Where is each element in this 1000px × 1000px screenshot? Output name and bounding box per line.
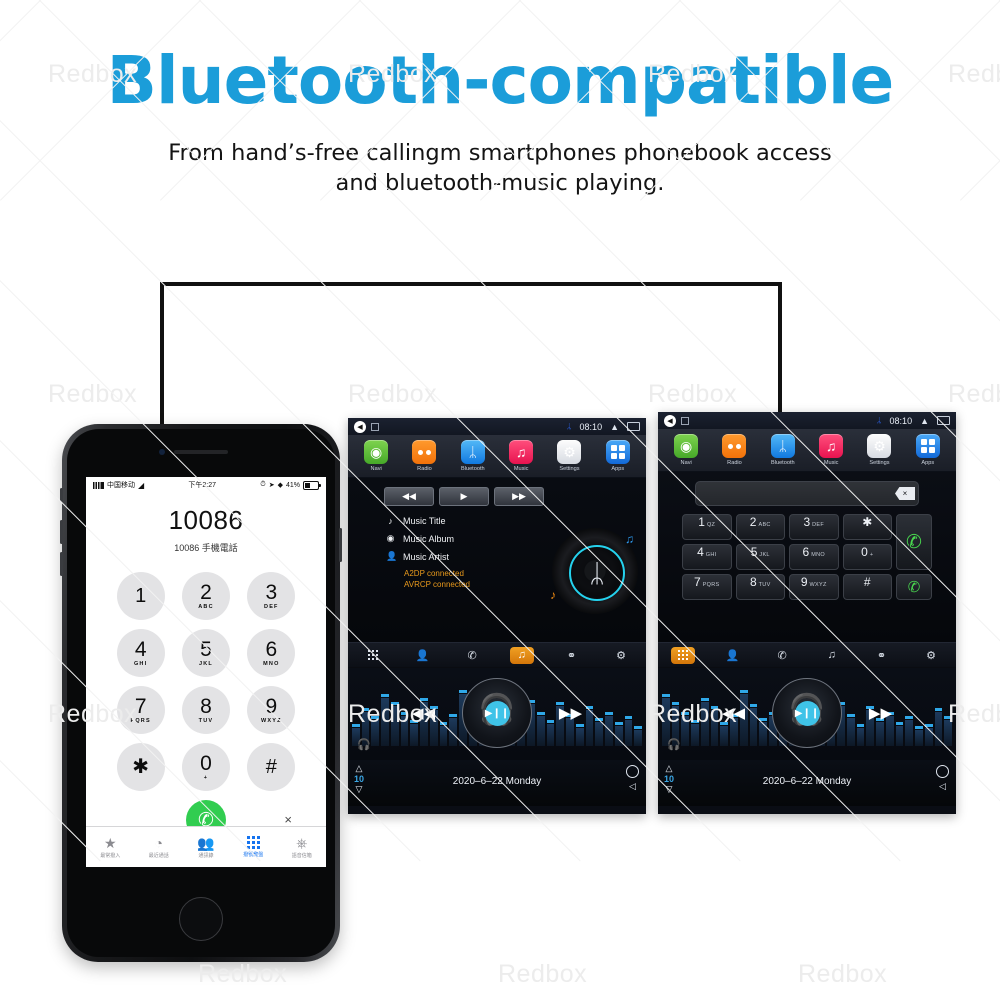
unit2-app-label: Apps <box>921 460 934 466</box>
phone-tab-label: 最近通話 <box>149 852 169 859</box>
unit1-tool-link[interactable]: ⚭ <box>559 647 583 664</box>
phone-key-digit: 2 <box>200 583 212 602</box>
equalizer-bar <box>701 702 709 746</box>
phone-bezel: 中国移动 ◢ 下午2:27 ⏱ ➤ ◆ 41% 10086 10086 手機電話… <box>67 429 335 957</box>
watermark-text: Redbox <box>798 960 887 989</box>
equalizer-bar <box>401 716 409 746</box>
phone-key-digit: 6 <box>265 640 277 659</box>
music-note-orange-icon: ♪ <box>550 588 556 602</box>
unit2-key-digit: 1 <box>698 515 705 529</box>
unit1-app-navi[interactable]: ◉Navi <box>354 440 398 472</box>
clock-icon: ◔ <box>155 836 163 850</box>
phone-number-input[interactable]: × <box>695 481 919 506</box>
phone-key-2[interactable]: 2ABC <box>182 572 230 620</box>
next-track-icon[interactable]: ▶▶ <box>869 704 892 722</box>
equalizer-bar <box>681 716 689 746</box>
phone-key-letters: + <box>204 775 208 781</box>
unit1-app-settings[interactable]: ⚙Settings <box>547 440 591 472</box>
equalizer-bar <box>944 720 952 746</box>
unit2-app-row[interactable]: ◉NaviRadioᛦBluetooth♫Music⚙SettingsApps <box>658 429 956 472</box>
unit1-app-label: Settings <box>559 466 579 472</box>
unit2-key-letters: ABC <box>758 522 770 528</box>
unit1-tool-settings[interactable]: ⚙ <box>609 647 633 664</box>
phone-key-letters: ABC <box>198 604 214 610</box>
next-track-icon[interactable]: ▶▶ <box>559 704 582 722</box>
unit2-key-star[interactable]: ✱ <box>843 514 893 540</box>
unit1-meta-label: Music Artist <box>403 552 449 562</box>
status-left-group: 中国移动 ◢ <box>93 480 144 490</box>
phone-volume-up-button[interactable] <box>60 520 63 544</box>
equalizer-bar <box>615 726 623 746</box>
unit2-play-ring: 🎧 ▶❙❙ <box>772 678 842 748</box>
unit2-tool-keypad[interactable] <box>671 647 695 664</box>
smartphone-device: 中国移动 ◢ 下午2:27 ⏱ ➤ ◆ 41% 10086 10086 手機電話… <box>62 424 340 962</box>
phone-key-digit: 9 <box>265 697 277 716</box>
unit2-key-letters: WXYZ <box>810 582 827 588</box>
rewind-icon[interactable]: ◀◀ <box>384 487 434 506</box>
unit2-date-label: 2020–6–22 Monday <box>763 776 851 787</box>
bluetooth-icon: ᛦ <box>461 440 485 464</box>
unit2-key-5[interactable]: 5JKL <box>736 544 786 570</box>
unit2-key-4[interactable]: 4GHI <box>682 544 732 570</box>
unit2-clock: 08:10 <box>890 416 913 426</box>
phone-key-digit: 7 <box>135 697 147 716</box>
unit1-tool-music[interactable]: ♫ <box>510 647 534 664</box>
unit2-app-navi[interactable]: ◉Navi <box>664 434 708 466</box>
unit1-clock: 08:10 <box>580 422 603 432</box>
bluetooth-icon: ᛦ <box>771 434 795 458</box>
tray-icon[interactable] <box>937 416 950 425</box>
car-stereo-unit-music: ◀ ᛦ 08:10 ▲ ◉NaviRadioᛦBluetooth♫Music⚙S… <box>348 418 646 814</box>
equalizer-bar <box>847 718 855 746</box>
equalizer-bar <box>547 724 555 746</box>
phone-key-1[interactable]: 1 <box>117 572 165 620</box>
signal-bars-icon <box>93 482 104 489</box>
unit2-dialpad[interactable]: 1QZ2ABC3DEF✱✆4GHI5JKL6MNO0+7PQRS8TUV9WXY… <box>682 514 932 600</box>
home-circle-icon[interactable] <box>936 765 949 778</box>
unit1-footer: △ 10 ▽ 2020–6–22 Monday ◁ <box>348 760 646 806</box>
album-disc-icon: ◉ <box>386 533 395 544</box>
grid-apps-icon <box>916 434 940 458</box>
voicemail-icon: ⎈ <box>296 836 307 850</box>
unit1-meta-label: Music Title <box>403 516 446 526</box>
unit2-key-digit: # <box>864 575 871 589</box>
unit2-key-letters: TUV <box>759 582 771 588</box>
equalizer-bar <box>711 710 719 746</box>
phone-key-9[interactable]: 9WXYZ <box>247 686 295 734</box>
unit2-key-hash[interactable]: # <box>843 574 893 600</box>
unit2-app-label: Settings <box>869 460 889 466</box>
music-note-icon: ♫ <box>819 434 843 458</box>
unit2-tool-music[interactable]: ♫ <box>820 647 844 664</box>
unit2-app-apps[interactable]: Apps <box>906 434 950 466</box>
equalizer-bar <box>720 726 728 746</box>
watermark-text: Redbox <box>498 960 587 989</box>
previous-track-icon[interactable]: ◀◀ <box>722 704 745 722</box>
unit2-key-7[interactable]: 7PQRS <box>682 574 732 600</box>
equalizer-bar <box>896 726 904 746</box>
equalizer-bar <box>759 722 767 746</box>
unit2-tool-call-log[interactable]: ✆ <box>770 647 794 664</box>
phone-tab-label: 撥號鍵盤 <box>243 851 263 858</box>
phone-earpiece <box>174 450 228 454</box>
page-title: Bluetooth-compatible <box>0 48 1000 114</box>
unit2-status-bar: ◀ ᛦ 08:10 ▲ <box>658 412 956 429</box>
car-stereo-unit-dialer: ◀ ᛦ 08:10 ▲ ◉NaviRadioᛦBluetooth♫Music⚙S… <box>658 412 956 814</box>
phone-key-8[interactable]: 8TUV <box>182 686 230 734</box>
unit1-status-right: ᛦ 08:10 ▲ <box>567 422 640 432</box>
unit2-key-digit: 5 <box>751 545 758 559</box>
unit1-status-bar: ◀ ᛦ 08:10 ▲ <box>348 418 646 435</box>
phone-key-5[interactable]: 5JKL <box>182 629 230 677</box>
unit2-function-toolbar[interactable]: 👤✆♫⚭⚙ <box>658 642 956 668</box>
equalizer-bar <box>371 720 379 746</box>
unit2-key-letters: DEF <box>812 522 824 528</box>
unit2-app-music[interactable]: ♫Music <box>809 434 853 466</box>
phone-volume-down-button[interactable] <box>60 552 63 576</box>
chevron-up-icon[interactable]: ▲ <box>610 422 619 432</box>
contacts-icon: 👥 <box>197 836 214 850</box>
phone-body: 中国移动 ◢ 下午2:27 ⏱ ➤ ◆ 41% 10086 10086 手機電話… <box>62 424 340 962</box>
unit2-key-letters: + <box>870 552 874 558</box>
phone-key-digit: 4 <box>135 640 147 659</box>
phone-key-0[interactable]: 0+ <box>182 743 230 791</box>
back-triangle-icon[interactable]: ◁ <box>939 782 946 791</box>
volume-up-icon[interactable]: △ <box>666 764 673 773</box>
volume-value: 10 <box>664 774 674 784</box>
phone-tab-voicemail[interactable]: ⎈語音信箱 <box>292 836 312 859</box>
phone-key-letters: JKL <box>199 661 213 667</box>
sd-card-icon <box>371 423 379 431</box>
unit1-app-radio[interactable]: Radio <box>402 440 446 472</box>
phone-key-digit: # <box>266 756 277 778</box>
phone-key-digit: 0 <box>200 754 212 773</box>
unit2-key-digit: 3 <box>803 515 810 529</box>
unit2-key-letters: MNO <box>811 552 825 558</box>
unit1-tool-keypad[interactable] <box>361 647 385 664</box>
equalizer-bar <box>935 712 943 746</box>
music-note-blue-icon: ♫ <box>625 532 634 546</box>
tray-icon[interactable] <box>627 422 640 431</box>
phone-tab-star[interactable]: ★最常撥入 <box>100 836 120 859</box>
bluetooth-glyph: ᛦ <box>589 560 605 586</box>
equalizer-bar <box>449 718 457 746</box>
equalizer-bar <box>381 698 389 746</box>
music-title-icon: ♪ <box>386 516 395 526</box>
unit1-app-bluetooth[interactable]: ᛦBluetooth <box>451 440 495 472</box>
unit2-app-label: Radio <box>727 460 742 466</box>
phone-tab-keypad[interactable]: 撥號鍵盤 <box>243 836 263 858</box>
unit2-nav-buttons[interactable]: ◁ <box>936 765 949 791</box>
phone-key-3[interactable]: 3DEF <box>247 572 295 620</box>
front-camera-icon <box>159 449 165 455</box>
radio-icon <box>722 434 746 458</box>
watermark-text: Redbox <box>948 380 1000 409</box>
unit2-key-3[interactable]: 3DEF <box>789 514 839 540</box>
unit1-nav-buttons[interactable]: ◁ <box>626 765 639 791</box>
phone-key-4[interactable]: 4GHI <box>117 629 165 677</box>
unit2-app-bluetooth[interactable]: ᛦBluetooth <box>761 434 805 466</box>
unit1-app-music[interactable]: ♫Music <box>499 440 543 472</box>
watermark-text: Redbox <box>48 380 137 409</box>
unit1-transport-controls[interactable]: ◀◀▶▶▶ <box>348 478 646 506</box>
equalizer-bar <box>410 724 418 746</box>
location-pin-icon: ◉ <box>364 440 388 464</box>
unit1-play-ring: 🎧 ▶❙❙ <box>462 678 532 748</box>
equalizer-bar <box>876 722 884 746</box>
unit2-key-letters: JKL <box>759 552 769 558</box>
phone-tab-contacts[interactable]: 👥通訊錄 <box>197 836 214 859</box>
unit1-app-row[interactable]: ◉NaviRadioᛦBluetooth♫Music⚙SettingsApps <box>348 435 646 478</box>
equalizer-bar <box>391 706 399 746</box>
sd-card-icon <box>681 417 689 425</box>
call-answer-icon[interactable]: ✆ <box>896 514 932 570</box>
bluetooth-icon: ᛦ <box>569 545 625 601</box>
phone-tab-label: 最常撥入 <box>100 852 120 859</box>
volume-value: 10 <box>354 774 364 784</box>
wifi-icon: ◢ <box>138 481 144 490</box>
unit2-status-right: ᛦ 08:10 ▲ <box>877 416 950 426</box>
bluetooth-icon: ᛦ <box>567 422 572 431</box>
equalizer-bar <box>691 724 699 746</box>
equalizer-bar <box>634 730 642 746</box>
unit2-volume-control[interactable]: △ 10 ▽ <box>664 764 674 794</box>
unit2-key-digit: 8 <box>750 575 757 589</box>
unit2-key-digit: 0 <box>861 545 868 559</box>
unit2-key-digit: 7 <box>694 575 701 589</box>
unit2-player: ◀◀ 🎧 ▶❙❙ ▶▶ 🎧 <box>658 668 956 760</box>
phone-key-digit: 1 <box>135 585 146 607</box>
music-note-icon: ♫ <box>509 440 533 464</box>
unit2-dialer-panel: × 1QZ2ABC3DEF✱✆4GHI5JKL6MNO0+7PQRS8TUV9W… <box>658 472 956 642</box>
play-icon[interactable]: ▶ <box>439 487 489 506</box>
battery-percent: 41% <box>286 482 300 489</box>
status-right-group: ⏱ ➤ ◆ 41% <box>260 481 319 490</box>
unit2-app-label: Navi <box>681 460 692 466</box>
gear-icon: ⚙ <box>557 440 581 464</box>
phone-key-hash[interactable]: # <box>247 743 295 791</box>
location-icon: ➤ <box>269 481 275 489</box>
backspace-icon[interactable]: × <box>895 487 915 500</box>
header: Bluetooth-compatible From hand’s-free ca… <box>0 0 1000 199</box>
phone-key-letters: MNO <box>263 661 279 667</box>
phone-key-digit: 8 <box>200 697 212 716</box>
unit2-key-digit: 2 <box>750 515 757 529</box>
phone-key-letters: TUV <box>199 718 214 724</box>
dialed-number: 10086 <box>86 505 326 536</box>
call-end-icon[interactable]: ✆ <box>896 574 932 600</box>
grid-apps-icon <box>606 440 630 464</box>
watermark-text: Redbox <box>198 960 287 989</box>
chevron-up-icon[interactable]: ▲ <box>920 416 929 426</box>
equalizer-bar <box>625 720 633 746</box>
unit1-vinyl-disc-graphic: ᛦ ♫ ♪ <box>552 528 638 614</box>
bluetooth-icon: ᛦ <box>877 416 882 425</box>
equalizer-bar <box>857 728 865 746</box>
unit1-tool-call-log[interactable]: ✆ <box>460 647 484 664</box>
unit2-app-label: Music <box>824 460 839 466</box>
equalizer-bar <box>605 716 613 746</box>
unit1-app-label: Apps <box>611 466 624 472</box>
unit1-volume-control[interactable]: △ 10 ▽ <box>354 764 364 794</box>
previous-track-icon[interactable]: ◀◀ <box>412 704 435 722</box>
phone-key-letters: DEF <box>264 604 279 610</box>
equalizer-bar <box>905 720 913 746</box>
phone-key-7[interactable]: 7PQRS <box>117 686 165 734</box>
play-pause-button[interactable]: ▶❙❙ <box>795 701 820 726</box>
unit1-tool-contact[interactable]: 👤 <box>410 647 434 664</box>
unit2-key-digit: 6 <box>803 545 810 559</box>
phone-keypad[interactable]: 12ABC3DEF4GHI5JKL6MNO7PQRS8TUV9WXYZ✱0+# <box>108 572 304 791</box>
page-subtitle: From hand’s-free callingm smartphones ph… <box>0 138 1000 199</box>
phone-tab-clock[interactable]: ◔最近通話 <box>149 836 169 859</box>
unit2-app-settings[interactable]: ⚙Settings <box>857 434 901 466</box>
unit1-date-label: 2020–6–22 Monday <box>453 776 541 787</box>
unit2-tool-link[interactable]: ⚭ <box>869 647 893 664</box>
gear-icon: ⚙ <box>867 434 891 458</box>
volume-down-icon[interactable]: ▽ <box>666 785 673 794</box>
volume-up-icon[interactable]: △ <box>356 764 363 773</box>
unit1-app-label: Navi <box>371 466 382 472</box>
unit1-function-toolbar[interactable]: 👤✆♫⚭⚙ <box>348 642 646 668</box>
alarm-icon: ⏱ <box>260 481 265 489</box>
unit1-app-label: Music <box>514 466 529 472</box>
star-icon: ★ <box>104 836 117 850</box>
unit2-key-2[interactable]: 2ABC <box>736 514 786 540</box>
unit2-key-letters: GHI <box>706 552 717 558</box>
phone-key-digit: 3 <box>265 583 277 602</box>
unit1-meta-label: Music Album <box>403 534 454 544</box>
keypad-icon <box>247 836 260 849</box>
unit2-key-8[interactable]: 8TUV <box>736 574 786 600</box>
unit1-app-label: Radio <box>417 466 432 472</box>
subtitle-line-2: and bluetooth-music playing. <box>0 168 1000 198</box>
phone-home-button[interactable] <box>179 897 223 941</box>
phone-tab-label: 通訊錄 <box>198 852 213 859</box>
unit2-key-digit: ✱ <box>862 515 872 529</box>
unit1-bluetooth-music-panel: ◀◀▶▶▶ ♪Music Title◉Music Album👤Music Art… <box>348 478 646 642</box>
unit2-tool-settings[interactable]: ⚙ <box>919 647 943 664</box>
volume-down-icon[interactable]: ▽ <box>356 785 363 794</box>
status-time: 下午2:27 <box>188 480 216 490</box>
equalizer-bar <box>595 722 603 746</box>
equalizer-bar <box>915 730 923 746</box>
phone-key-letters: PQRS <box>130 718 150 724</box>
phone-silent-switch[interactable] <box>60 488 63 502</box>
phone-tab-label: 語音信箱 <box>292 852 312 859</box>
phone-key-digit: 5 <box>200 640 212 659</box>
unit2-footer: △ 10 ▽ 2020–6–22 Monday ◁ <box>658 760 956 806</box>
phone-key-star[interactable]: ✱ <box>117 743 165 791</box>
location-pin-icon: ◉ <box>674 434 698 458</box>
back-arrow-icon[interactable]: ◀ <box>664 415 676 427</box>
dialed-number-subtitle: 10086 手機電話 <box>86 541 326 554</box>
phone-key-digit: ✱ <box>132 756 149 778</box>
phone-tab-bar[interactable]: ★最常撥入◔最近通話👥通訊錄撥號鍵盤⎈語音信箱 <box>86 826 326 867</box>
home-circle-icon[interactable] <box>626 765 639 778</box>
equalizer-bar <box>440 726 448 746</box>
back-triangle-icon[interactable]: ◁ <box>629 782 636 791</box>
phone-delete-button[interactable]: × <box>284 812 292 827</box>
unit2-key-letters: PQRS <box>703 582 720 588</box>
phone-key-letters: WXYZ <box>261 718 282 724</box>
unit2-key-6[interactable]: 6MNO <box>789 544 839 570</box>
equalizer-bar <box>586 710 594 746</box>
back-arrow-icon[interactable]: ◀ <box>354 421 366 433</box>
unit2-key-9[interactable]: 9WXYZ <box>789 574 839 600</box>
unit1-app-label: Bluetooth <box>461 466 485 472</box>
unit2-app-radio[interactable]: Radio <box>712 434 756 466</box>
phone-status-bar: 中国移动 ◢ 下午2:27 ⏱ ➤ ◆ 41% <box>86 477 326 493</box>
subtitle-line-1: From hand’s-free callingm smartphones ph… <box>0 138 1000 168</box>
equalizer-bar <box>925 728 933 746</box>
phone-number-input-value <box>696 487 704 499</box>
play-pause-button[interactable]: ▶❙❙ <box>485 701 510 726</box>
phone-power-button[interactable] <box>339 528 342 562</box>
carrier-label: 中国移动 <box>107 480 135 490</box>
unit2-key-digit: 9 <box>801 575 808 589</box>
unit1-player: ◀◀ 🎧 ▶❙❙ ▶▶ 🎧 <box>348 668 646 760</box>
unit1-app-apps[interactable]: Apps <box>596 440 640 472</box>
equalizer-bar <box>730 718 738 746</box>
bluetooth-status-icon: ◆ <box>278 481 283 489</box>
unit2-tool-contact[interactable]: 👤 <box>720 647 744 664</box>
bracket-top-line <box>160 282 782 286</box>
phone-key-6[interactable]: 6MNO <box>247 629 295 677</box>
battery-icon <box>303 481 319 490</box>
artist-icon: 👤 <box>386 551 395 562</box>
headphone-icon[interactable]: 🎧 <box>357 738 371 751</box>
bracket-left-line <box>160 282 164 437</box>
unit1-meta-row: ♪Music Title <box>386 516 646 526</box>
equalizer-bar <box>566 718 574 746</box>
forward-icon[interactable]: ▶▶ <box>494 487 544 506</box>
equalizer-bar <box>537 716 545 746</box>
equalizer-bar <box>576 728 584 746</box>
phone-key-letters: GHI <box>134 661 147 667</box>
unit2-key-0[interactable]: 0+ <box>843 544 893 570</box>
equalizer-bar <box>750 708 758 746</box>
headphone-icon[interactable]: 🎧 <box>667 738 681 751</box>
unit2-app-label: Bluetooth <box>771 460 795 466</box>
phone-screen: 中国移动 ◢ 下午2:27 ⏱ ➤ ◆ 41% 10086 10086 手機電話… <box>86 477 326 867</box>
unit2-key-digit: 4 <box>697 545 704 559</box>
unit2-key-letters: QZ <box>707 522 715 528</box>
unit2-key-1[interactable]: 1QZ <box>682 514 732 540</box>
radio-icon <box>412 440 436 464</box>
